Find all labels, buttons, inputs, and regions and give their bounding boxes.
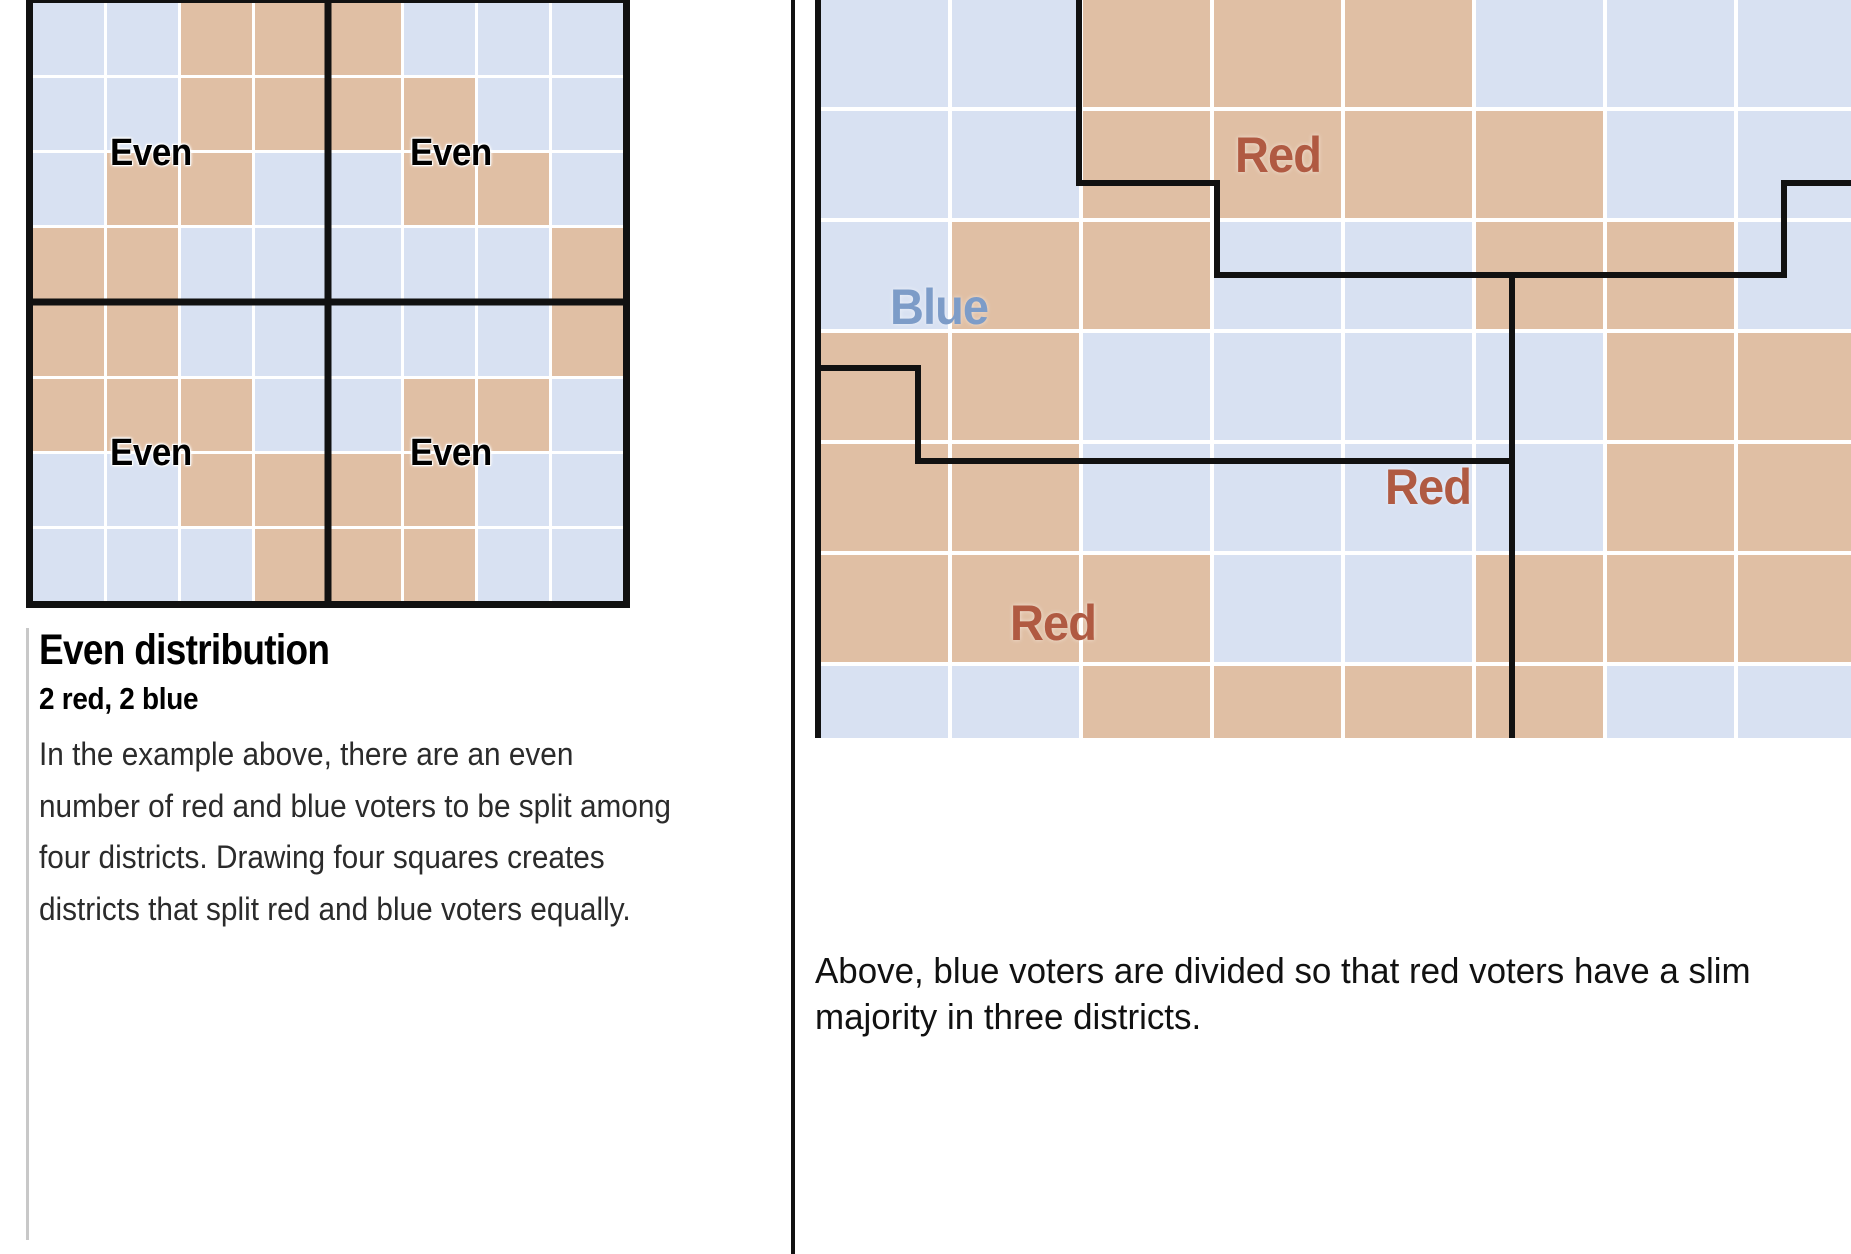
voter-cell-red [330, 454, 401, 526]
infographic-page: Even Even Even Even Even distribution 2 … [0, 0, 1851, 1254]
voter-cell-blue [33, 3, 104, 75]
voter-cell-blue [1476, 333, 1603, 440]
voter-cell-red [181, 3, 252, 75]
voter-cell-blue [330, 379, 401, 451]
voter-cell-red [1345, 666, 1472, 738]
voter-cell-blue [1345, 555, 1472, 662]
voter-cell-blue [821, 0, 948, 107]
voter-cell-blue [1738, 666, 1851, 738]
district-divider-horizontal [33, 299, 623, 306]
voter-cell-red [821, 555, 948, 662]
voter-cell-red [1083, 666, 1210, 738]
voter-cell-blue [552, 379, 623, 451]
district-border-segment [1076, 0, 1082, 186]
voter-cell-blue [1476, 0, 1603, 107]
voter-cell-blue [552, 529, 623, 601]
vertical-rule [26, 628, 29, 1240]
voter-cell-blue [33, 78, 104, 150]
district-label-red-1: Red [1235, 126, 1321, 184]
voter-cell-red [330, 3, 401, 75]
voter-cell-red [33, 379, 104, 451]
voter-cell-blue [255, 153, 326, 225]
voter-cell-red [552, 228, 623, 300]
even-distribution-grid [26, 0, 630, 608]
voter-cell-blue [1607, 0, 1734, 107]
voter-cell-blue [404, 304, 475, 376]
voter-cell-blue [107, 529, 178, 601]
voter-cell-red [1214, 0, 1341, 107]
gerrymandered-grid [815, 0, 1851, 738]
right-panel: Red Blue Red Red Above, blue voters are … [795, 0, 1851, 1254]
voter-cell-red [1476, 555, 1603, 662]
voter-cell-blue [478, 529, 549, 601]
voter-cell-blue [255, 304, 326, 376]
voter-cell-red [255, 3, 326, 75]
voter-cell-red [255, 454, 326, 526]
voter-cell-red [1738, 333, 1851, 440]
voter-cell-red [1083, 222, 1210, 329]
voter-cell-blue [552, 153, 623, 225]
voter-cell-red [255, 78, 326, 150]
voter-cell-blue [404, 3, 475, 75]
left-text-block: Even distribution 2 red, 2 blue In the e… [26, 628, 666, 936]
voter-cell-red [1738, 555, 1851, 662]
voter-cell-red [107, 304, 178, 376]
district-border-segment [915, 365, 921, 464]
voter-cell-blue [478, 304, 549, 376]
voter-cell-blue [255, 228, 326, 300]
district-border-segment [1214, 272, 1787, 278]
voter-cell-red [181, 153, 252, 225]
voter-cell-red [1607, 444, 1734, 551]
voter-cell-blue [952, 666, 1079, 738]
voter-cell-blue [552, 3, 623, 75]
voter-cell-blue [1345, 333, 1472, 440]
voter-cell-blue [1607, 111, 1734, 218]
voter-cell-red [1345, 0, 1472, 107]
voter-cell-red [1083, 0, 1210, 107]
voter-cell-blue [821, 666, 948, 738]
district-label-even-3: Even [110, 432, 192, 475]
voter-cell-blue [478, 3, 549, 75]
voter-cell-red [952, 333, 1079, 440]
district-label-blue: Blue [890, 278, 988, 336]
voter-cell-red [181, 454, 252, 526]
district-label-even-4: Even [410, 432, 492, 475]
voter-cell-blue [552, 454, 623, 526]
voter-cell-red [33, 228, 104, 300]
voter-cell-blue [1738, 111, 1851, 218]
voter-cell-blue [107, 3, 178, 75]
voter-cell-red [1083, 555, 1210, 662]
district-label-even-1: Even [110, 132, 192, 175]
right-caption: Above, blue voters are divided so that r… [815, 948, 1795, 1040]
voter-cell-blue [255, 379, 326, 451]
headline: Even distribution [39, 628, 578, 673]
voter-cell-blue [181, 228, 252, 300]
voter-cell-blue [404, 228, 475, 300]
voter-cell-red [330, 78, 401, 150]
voter-grid-right [821, 0, 1851, 738]
voter-cell-blue [821, 111, 948, 218]
voter-cell-red [1607, 555, 1734, 662]
voter-cell-red [1476, 666, 1603, 738]
voter-cell-red [1345, 111, 1472, 218]
district-label-red-3: Red [1010, 594, 1096, 652]
voter-cell-red [181, 379, 252, 451]
voter-cell-red [1214, 666, 1341, 738]
voter-cell-blue [330, 153, 401, 225]
voter-cell-red [330, 529, 401, 601]
voter-cell-blue [1083, 333, 1210, 440]
district-border-segment [1214, 180, 1220, 278]
voter-cell-red [255, 529, 326, 601]
voter-cell-blue [1607, 666, 1734, 738]
district-border-segment [1509, 272, 1515, 738]
voter-cell-red [1738, 444, 1851, 551]
voter-cell-blue [181, 304, 252, 376]
voter-cell-blue [952, 111, 1079, 218]
voter-cell-red [1476, 111, 1603, 218]
voter-cell-red [1083, 111, 1210, 218]
voter-cell-blue [1738, 0, 1851, 107]
district-border-segment [1781, 180, 1851, 186]
voter-cell-red [107, 228, 178, 300]
voter-cell-blue [181, 529, 252, 601]
voter-cell-blue [952, 0, 1079, 107]
voter-cell-red [1607, 333, 1734, 440]
voter-cell-blue [330, 228, 401, 300]
voter-cell-blue [1214, 555, 1341, 662]
voter-cell-blue [1214, 333, 1341, 440]
voter-cell-blue [33, 529, 104, 601]
voter-cell-red [821, 333, 948, 440]
subheadline: 2 red, 2 blue [39, 681, 603, 717]
voter-cell-blue [33, 454, 104, 526]
district-label-even-2: Even [410, 132, 492, 175]
district-border-segment [1076, 180, 1220, 186]
district-label-red-2: Red [1385, 458, 1471, 516]
voter-cell-blue [330, 304, 401, 376]
voter-cell-red [181, 78, 252, 150]
left-panel: Even Even Even Even Even distribution 2 … [0, 0, 790, 1254]
body-paragraph: In the example above, there are an even … [39, 729, 671, 936]
voter-cell-red [33, 304, 104, 376]
district-border-segment [821, 365, 921, 371]
voter-cell-blue [478, 228, 549, 300]
voter-cell-blue [552, 78, 623, 150]
district-border-segment [1781, 180, 1787, 278]
voter-cell-red [404, 529, 475, 601]
voter-cell-blue [33, 153, 104, 225]
voter-cell-red [552, 304, 623, 376]
